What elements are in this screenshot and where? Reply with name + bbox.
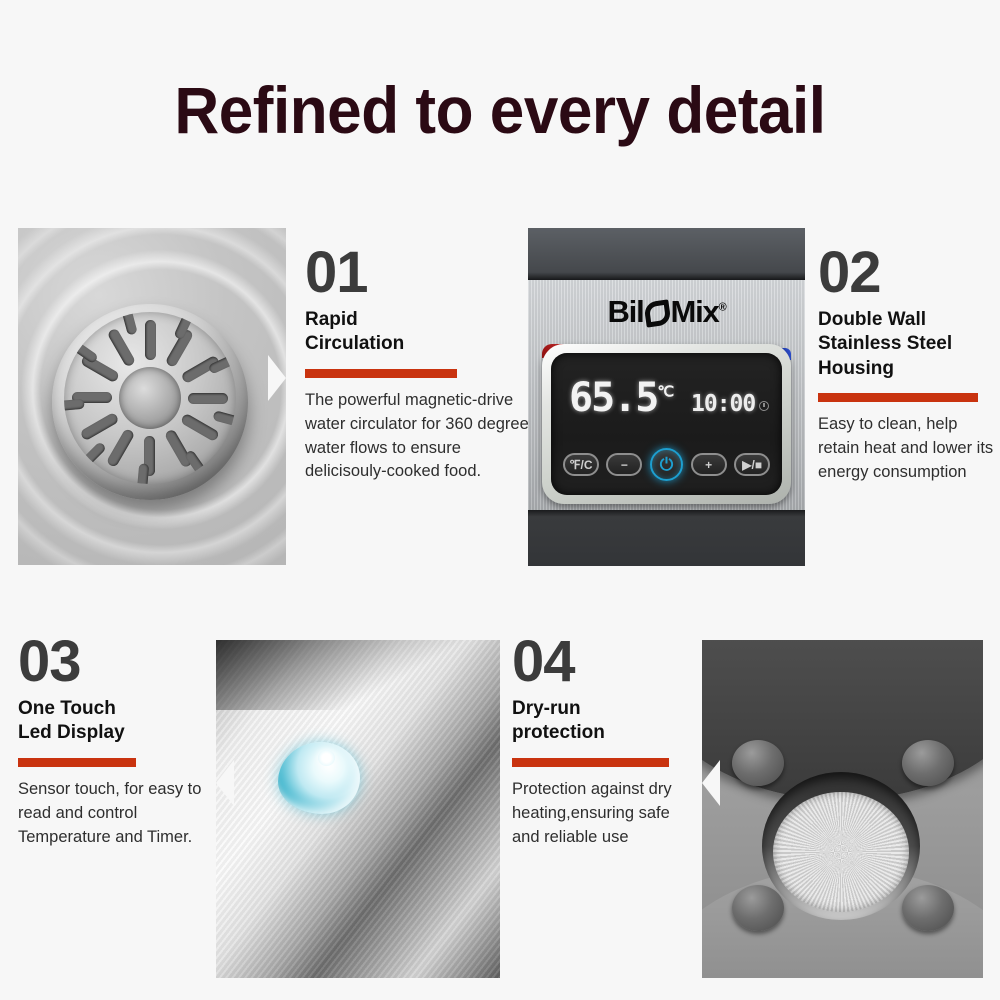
brand-droplet-i-icon: i: [629, 294, 636, 329]
feature-title-line-3: Housing: [818, 357, 1000, 381]
water-droplet-photo: [216, 640, 500, 978]
feature-title-line-1: Double Wall: [818, 308, 1000, 332]
housing-bump-bottom-right: [902, 885, 954, 931]
feature-title-line-2: Circulation: [305, 332, 530, 356]
brand-letter-l: l: [636, 294, 643, 329]
power-button[interactable]: ⏻: [650, 448, 683, 481]
feature-block-04: 04 Dry-run protection Protection against…: [512, 634, 694, 849]
feature-title-line-2: Led Display: [18, 721, 214, 745]
feature-block-02: 02 Double Wall Stainless Steel Housing E…: [818, 245, 1000, 485]
display-bezel: 65.5℃ 10:00 ℉/C − ⏻ + ▶/■: [542, 344, 791, 504]
accent-rule-03: [18, 758, 136, 767]
minus-button[interactable]: −: [606, 453, 642, 476]
led-display: 65.5℃ 10:00 ℉/C − ⏻ + ▶/■: [551, 353, 782, 495]
feature-title-line-1: Dry-run: [512, 697, 694, 721]
feature-title-04: Dry-run protection: [512, 697, 694, 746]
housing-bump-bottom-left: [732, 885, 784, 931]
feature-title-line-1: Rapid: [305, 308, 530, 332]
unit-toggle-button[interactable]: ℉/C: [563, 453, 599, 476]
feature-title-02: Double Wall Stainless Steel Housing: [818, 308, 1000, 381]
pump-impeller-grille-photo: [18, 228, 286, 565]
temperature-unit: ℃: [657, 383, 674, 401]
feature-body-03: Sensor touch, for easy to read and contr…: [18, 778, 214, 850]
pump-hub: [119, 367, 181, 429]
plus-button[interactable]: +: [691, 453, 727, 476]
feature-block-01: 01 Rapid Circulation The powerful magnet…: [305, 245, 530, 484]
brand-leaf-o-icon: [643, 299, 671, 327]
biolomix-brand-logo: BilMix®: [528, 294, 805, 330]
feature-title-line-2: Stainless Steel: [818, 332, 1000, 356]
feature-number-02: 02: [818, 245, 1000, 300]
registered-mark-icon: ®: [719, 302, 726, 314]
accent-rule-02: [818, 393, 978, 402]
feature-title-line-2: protection: [512, 721, 694, 745]
start-stop-button[interactable]: ▶/■: [734, 453, 770, 476]
pump-grille-face: [64, 312, 236, 484]
sensor-disc-rim: [762, 772, 920, 920]
page-title: Refined to every detail: [30, 72, 970, 148]
feature-number-04: 04: [512, 634, 694, 689]
temperature-readout: 65.5℃: [569, 375, 674, 421]
timer-readout: 10:00: [691, 391, 755, 417]
brand-letter-b: B: [607, 294, 628, 329]
feature-title-03: One Touch Led Display: [18, 697, 214, 746]
clock-icon: [759, 401, 769, 411]
feature-title-line-1: One Touch: [18, 697, 214, 721]
temperature-value: 65.5: [569, 375, 657, 421]
dry-run-housing-photo: [702, 640, 983, 978]
water-droplet-icon: [278, 742, 360, 814]
feature-body-04: Protection against dry heating,ensuring …: [512, 778, 694, 850]
brand-letters-mix: Mix: [671, 294, 719, 329]
pump-housing: [52, 304, 248, 500]
sensor-disc: [773, 792, 909, 912]
feature-block-03: 03 One Touch Led Display Sensor touch, f…: [18, 634, 214, 849]
accent-rule-04: [512, 758, 669, 767]
feature-number-01: 01: [305, 245, 530, 300]
panel-top-band: [528, 228, 805, 280]
dark-corner-shadow: [216, 640, 500, 710]
feature-title-01: Rapid Circulation: [305, 308, 530, 357]
touch-button-row: ℉/C − ⏻ + ▶/■: [551, 448, 782, 481]
housing-bump-top-left: [732, 740, 784, 786]
feature-body-01: The powerful magnetic-drive water circul…: [305, 389, 530, 485]
panel-bottom-band: [528, 510, 805, 566]
feature-body-02: Easy to clean, help retain heat and lowe…: [818, 413, 1000, 485]
housing-bump-top-right: [902, 740, 954, 786]
feature-number-03: 03: [18, 634, 214, 689]
accent-rule-01: [305, 369, 457, 378]
control-panel-photo: BilMix® 65.5℃ 10:00 ℉/C − ⏻ + ▶/■: [528, 228, 805, 566]
